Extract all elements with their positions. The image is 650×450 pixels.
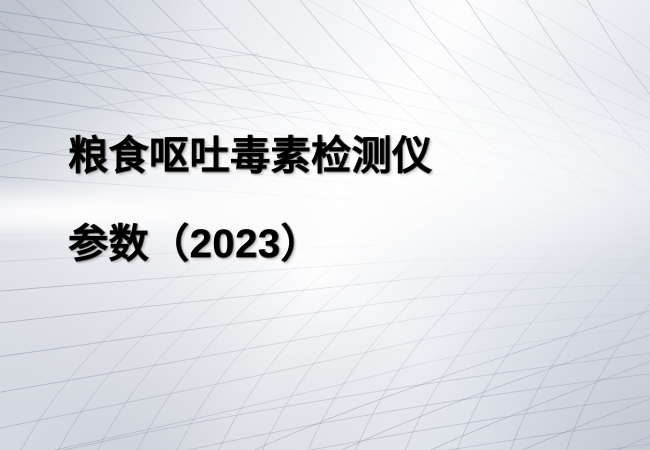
banner-title-line-2: 参数（2023）: [68, 200, 628, 288]
banner-title-line-1: 粮食呕吐毒素检测仪: [68, 112, 628, 200]
title-banner: 粮食呕吐毒素检测仪 参数（2023）: [0, 0, 650, 450]
banner-title: 粮食呕吐毒素检测仪 参数（2023）: [68, 112, 628, 288]
